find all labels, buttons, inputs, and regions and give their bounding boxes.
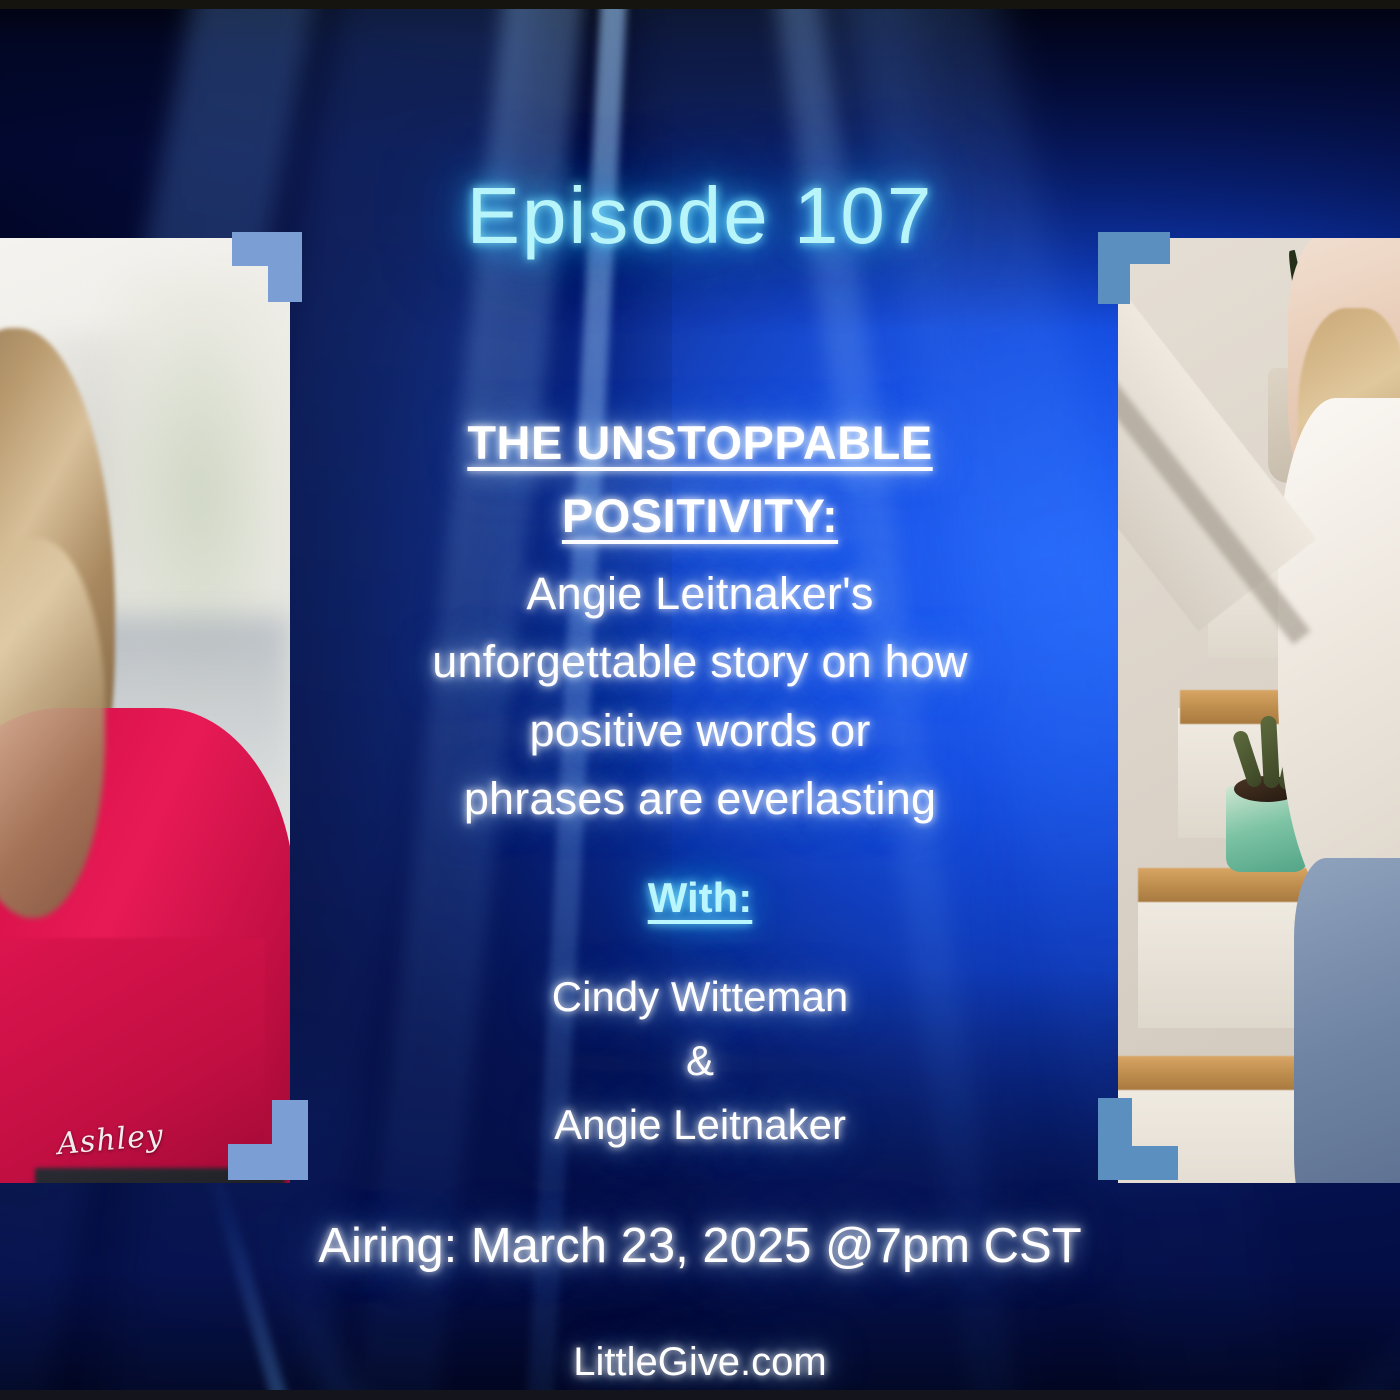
airing-date: Airing: March 23, 2025 @7pm CST bbox=[0, 1218, 1400, 1274]
website-url[interactable]: LittleGive.com bbox=[0, 1340, 1400, 1385]
description-line-4: phrases are everlasting bbox=[0, 765, 1400, 833]
description-line-1: Angie Leitnaker's bbox=[0, 560, 1400, 628]
episode-number: Episode 107 bbox=[0, 170, 1400, 262]
top-edge-bar bbox=[0, 0, 1400, 9]
with-label: With: bbox=[0, 874, 1400, 922]
guest-name-1: Cindy Witteman bbox=[0, 965, 1400, 1029]
episode-title-line-2: POSITIVITY: bbox=[0, 479, 1400, 552]
episode-promo-poster: Ashley bbox=[0, 0, 1400, 1400]
guest-separator: & bbox=[0, 1029, 1400, 1093]
guest-list: Cindy Witteman & Angie Leitnaker bbox=[0, 965, 1400, 1156]
description-line-3: positive words or bbox=[0, 697, 1400, 765]
description-line-2: unforgettable story on how bbox=[0, 628, 1400, 696]
episode-description: Angie Leitnaker's unforgettable story on… bbox=[0, 560, 1400, 834]
guest-name-2: Angie Leitnaker bbox=[0, 1093, 1400, 1157]
episode-title: THE UNSTOPPABLE POSITIVITY: bbox=[0, 406, 1400, 553]
bottom-edge-bar bbox=[0, 1390, 1400, 1400]
episode-title-line-1: THE UNSTOPPABLE bbox=[0, 406, 1400, 479]
